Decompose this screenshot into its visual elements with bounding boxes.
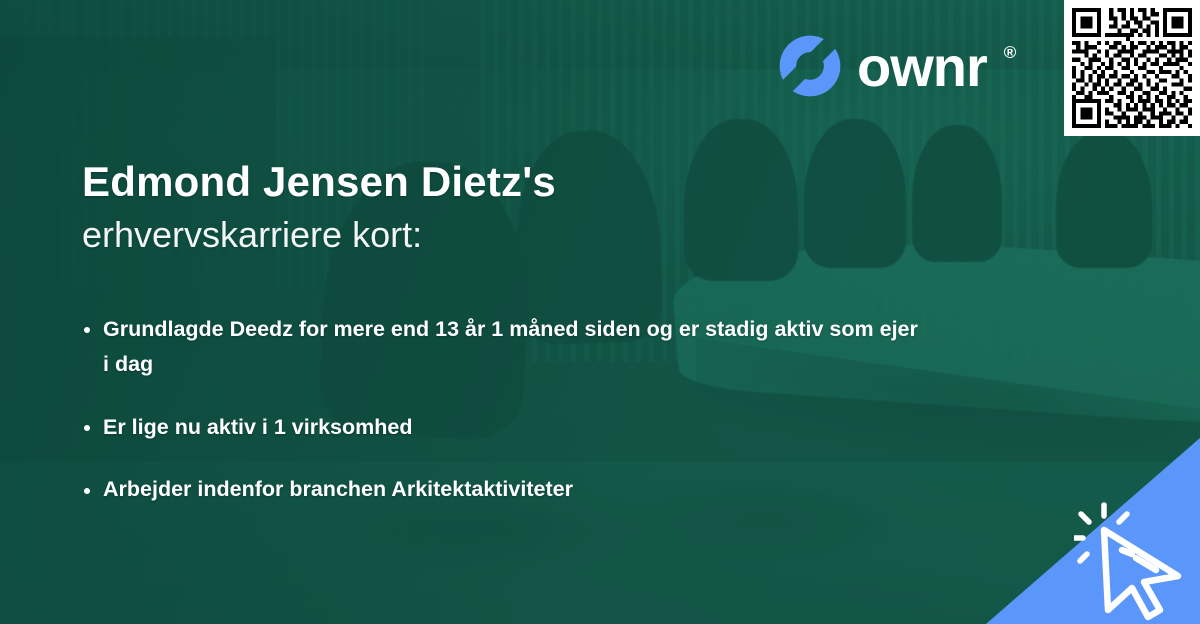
click-cursor-icon	[1074, 502, 1194, 622]
list-item-text: Grundlagde Deedz for mere end 13 år 1 må…	[103, 317, 918, 376]
qr-code-icon	[1072, 8, 1192, 128]
registered-trademark-icon: ®	[1004, 43, 1017, 63]
ownr-logo[interactable]: ownr ®	[777, 33, 1016, 99]
bullet-dot-icon	[84, 425, 90, 431]
list-item-text: Er lige nu aktiv i 1 virksomhed	[103, 415, 412, 439]
qr-code-panel[interactable]	[1064, 0, 1200, 136]
blue-triangle-shape	[986, 438, 1200, 624]
page-title: Edmond Jensen Dietz's	[82, 158, 556, 205]
career-facts-list: Grundlagde Deedz for mere end 13 år 1 må…	[82, 312, 922, 507]
bullet-dot-icon	[84, 327, 90, 333]
page-subtitle: erhvervskarriere kort:	[82, 213, 422, 256]
corner-accent-wedge	[986, 438, 1200, 624]
ownr-swirl-circle-icon	[777, 33, 843, 99]
list-item: Grundlagde Deedz for mere end 13 år 1 må…	[82, 312, 922, 382]
list-item: Arbejder indenfor branchen Arkitektaktiv…	[82, 472, 922, 507]
list-item-text: Arbejder indenfor branchen Arkitektaktiv…	[103, 477, 573, 501]
bullet-dot-icon	[84, 488, 90, 494]
list-item: Er lige nu aktiv i 1 virksomhed	[82, 410, 922, 445]
ownr-wordmark: ownr	[857, 39, 987, 95]
business-career-card: ownr ®	[0, 0, 1200, 624]
